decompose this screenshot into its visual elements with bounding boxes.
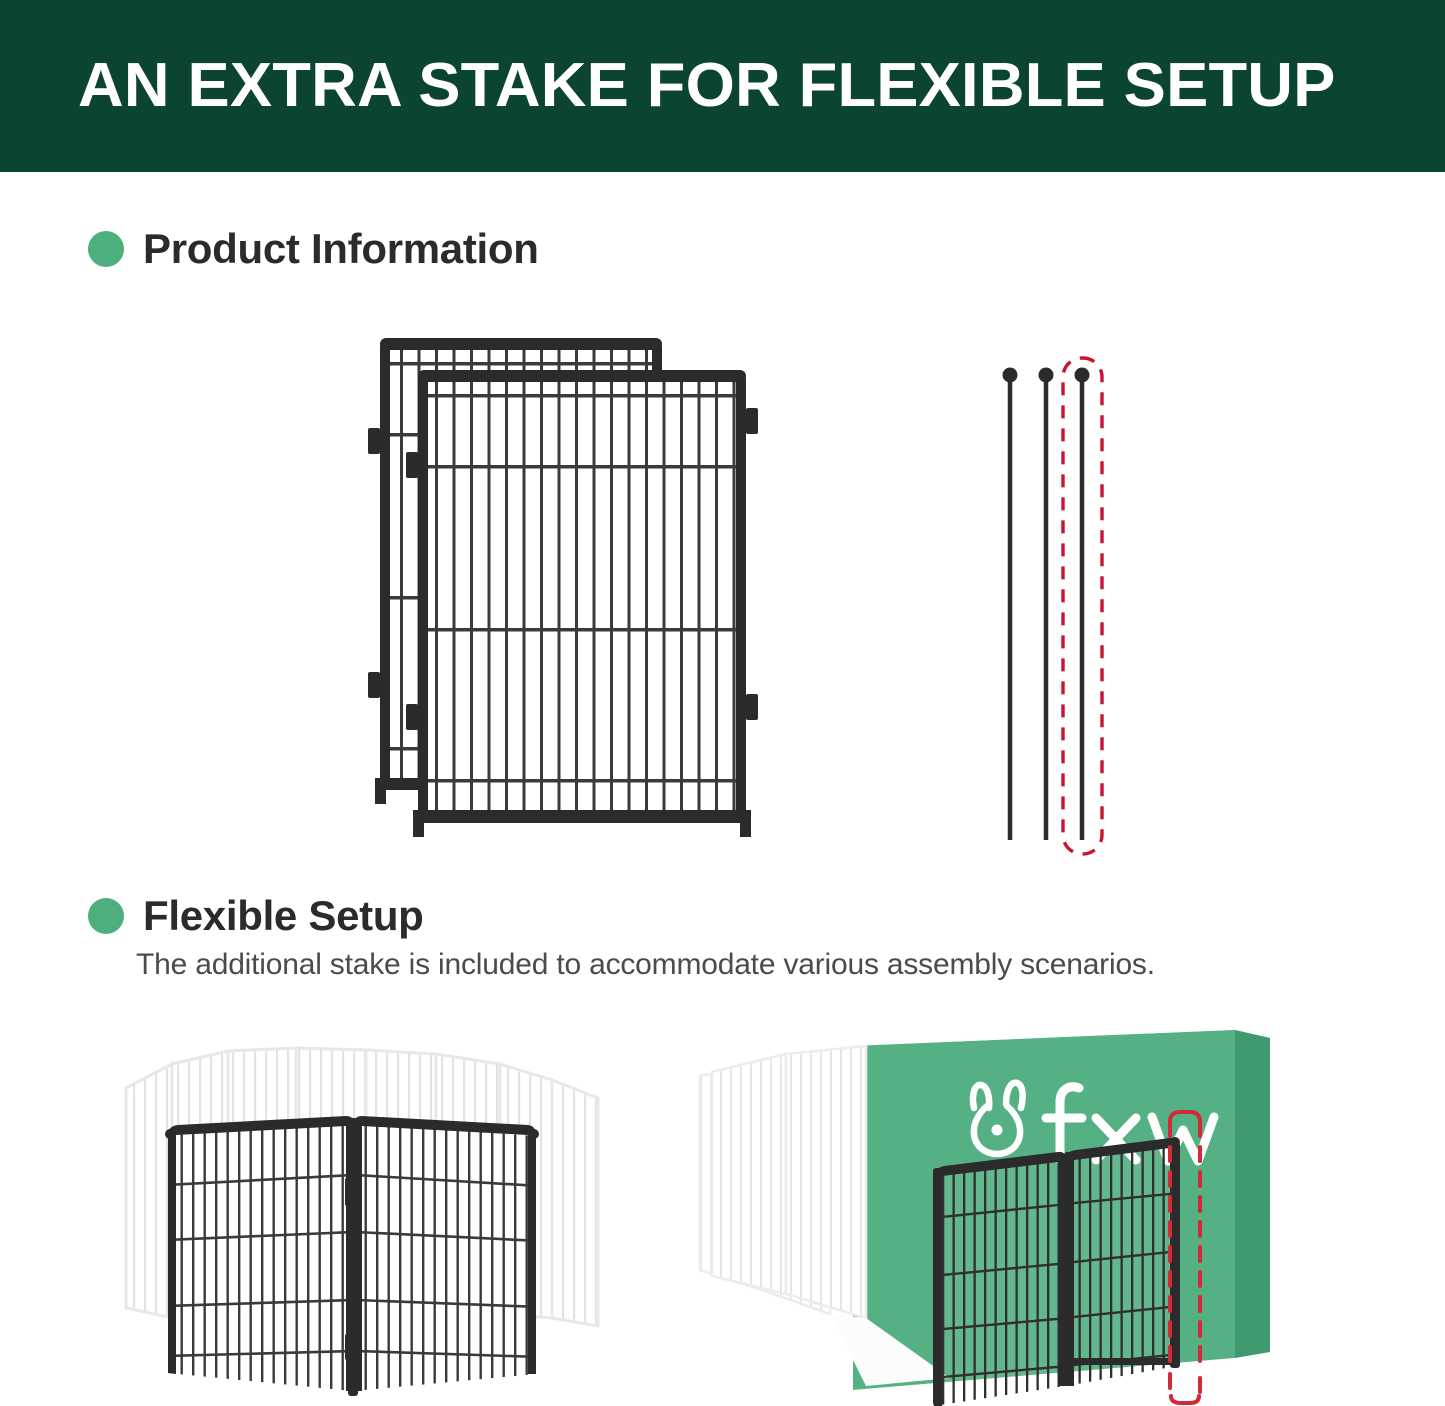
active-panel-right: [350, 1116, 546, 1398]
section-title-flexible-setup: Flexible Setup: [143, 895, 424, 937]
header-banner: AN EXTRA STAKE FOR FLEXIBLE SETUP: [0, 0, 1445, 172]
bullet-dot-icon: [88, 898, 124, 934]
pet-nose-icon: [992, 1125, 1003, 1136]
active-panel-left: [930, 1152, 1070, 1406]
stake-2: [1039, 368, 1054, 841]
section-title-product-information: Product Information: [143, 228, 539, 270]
wall-playpen-illustration: [690, 1018, 1310, 1406]
front-panel: [406, 370, 758, 837]
active-panel-right: [1062, 1137, 1182, 1390]
page-title: AN EXTRA STAKE FOR FLEXIBLE SETUP: [78, 55, 1336, 117]
bullet-dot-icon: [88, 231, 124, 267]
section-subtext-flexible-setup: The additional stake is included to acco…: [136, 948, 1155, 982]
active-panel-left: [160, 1116, 360, 1398]
stake-1: [1003, 368, 1018, 841]
stakes-illustration: [975, 350, 1125, 870]
stake-3-extra: [1075, 368, 1090, 841]
section-heading-product-information: Product Information: [88, 228, 539, 270]
product-panels-illustration: [330, 300, 790, 870]
section-heading-flexible-setup: Flexible Setup: [88, 895, 424, 937]
octagonal-playpen-illustration: [100, 1018, 670, 1406]
